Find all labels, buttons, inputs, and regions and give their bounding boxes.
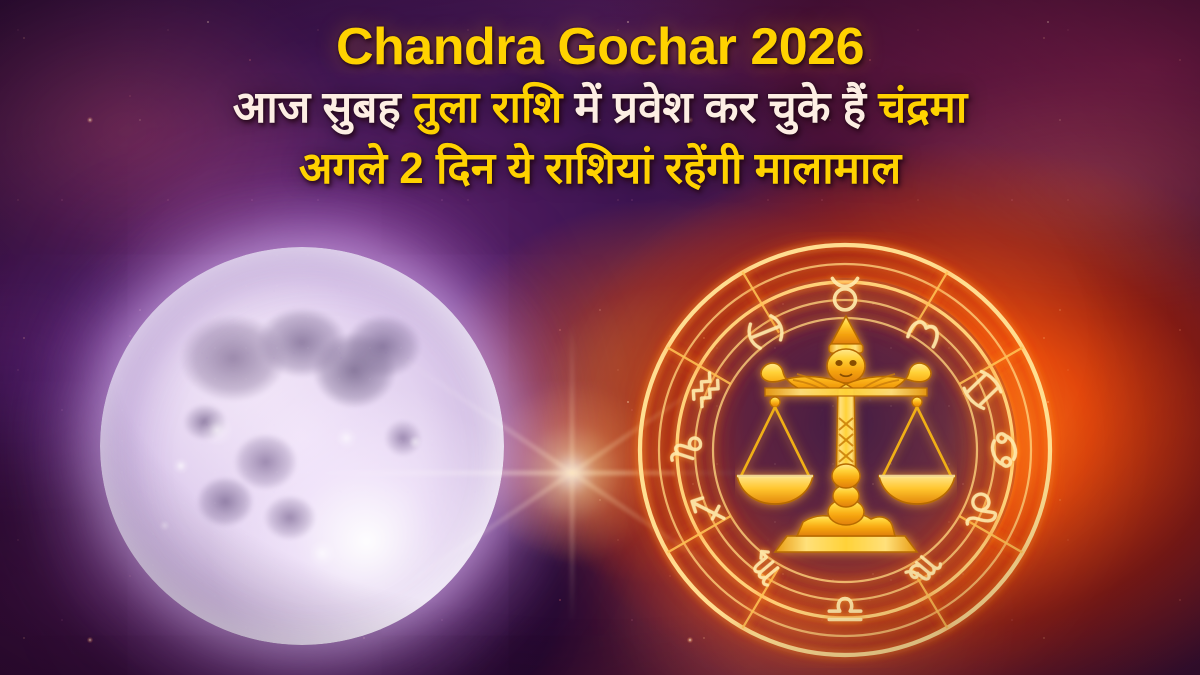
headline-block: Chandra Gochar 2026 आज सुबह तुला राशि मे… — [0, 0, 1200, 194]
poster-canvas: Chandra Gochar 2026 आज सुबह तुला राशि मे… — [0, 0, 1200, 675]
headline-line-2: आज सुबह तुला राशि में प्रवेश कर चुके हैं… — [0, 82, 1200, 133]
headline-line-3: अगले 2 दिन ये राशियां रहेंगी मालामाल — [0, 143, 1200, 194]
headline-line-2-seg-2: तुला राशि — [413, 83, 562, 132]
headline-line-2-seg-3: में प्रवेश कर चुके हैं — [562, 83, 878, 132]
page-title: Chandra Gochar 2026 — [0, 21, 1200, 74]
headline-line-2-seg-4: चंद्रमा — [878, 83, 967, 132]
headline-line-2-seg-1: आज सुबह — [233, 83, 413, 132]
